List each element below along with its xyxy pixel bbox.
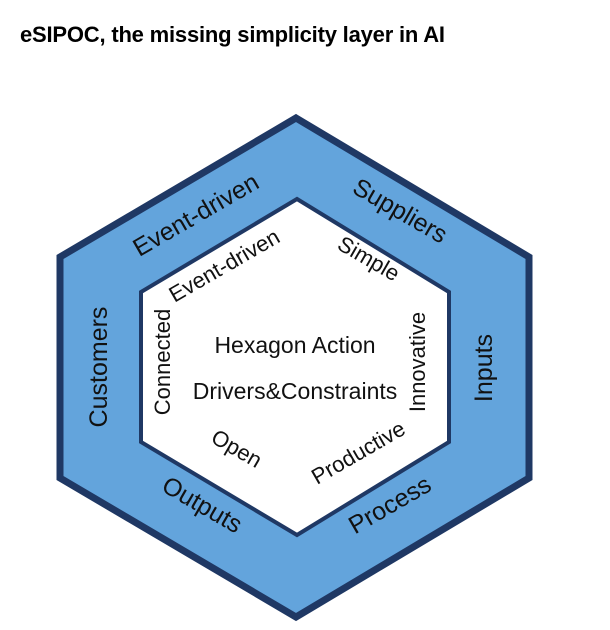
svg-text:Customers: Customers bbox=[85, 307, 113, 428]
svg-text:Inputs: Inputs bbox=[470, 334, 498, 402]
ring-label-customers: Customers bbox=[85, 307, 113, 428]
esipoc-hexagon-diagram: Event-driven Suppliers Inputs Process Ou… bbox=[0, 0, 610, 630]
center-line-1: Hexagon Action bbox=[214, 332, 375, 358]
svg-text:Connected: Connected bbox=[150, 309, 175, 415]
inner-label-connected: Connected bbox=[150, 309, 175, 415]
inner-label-innovative: Innovative bbox=[405, 312, 430, 412]
ring-label-inputs: Inputs bbox=[470, 334, 498, 402]
svg-text:Innovative: Innovative bbox=[405, 312, 430, 412]
center-line-2: Drivers&Constraints bbox=[193, 378, 398, 404]
